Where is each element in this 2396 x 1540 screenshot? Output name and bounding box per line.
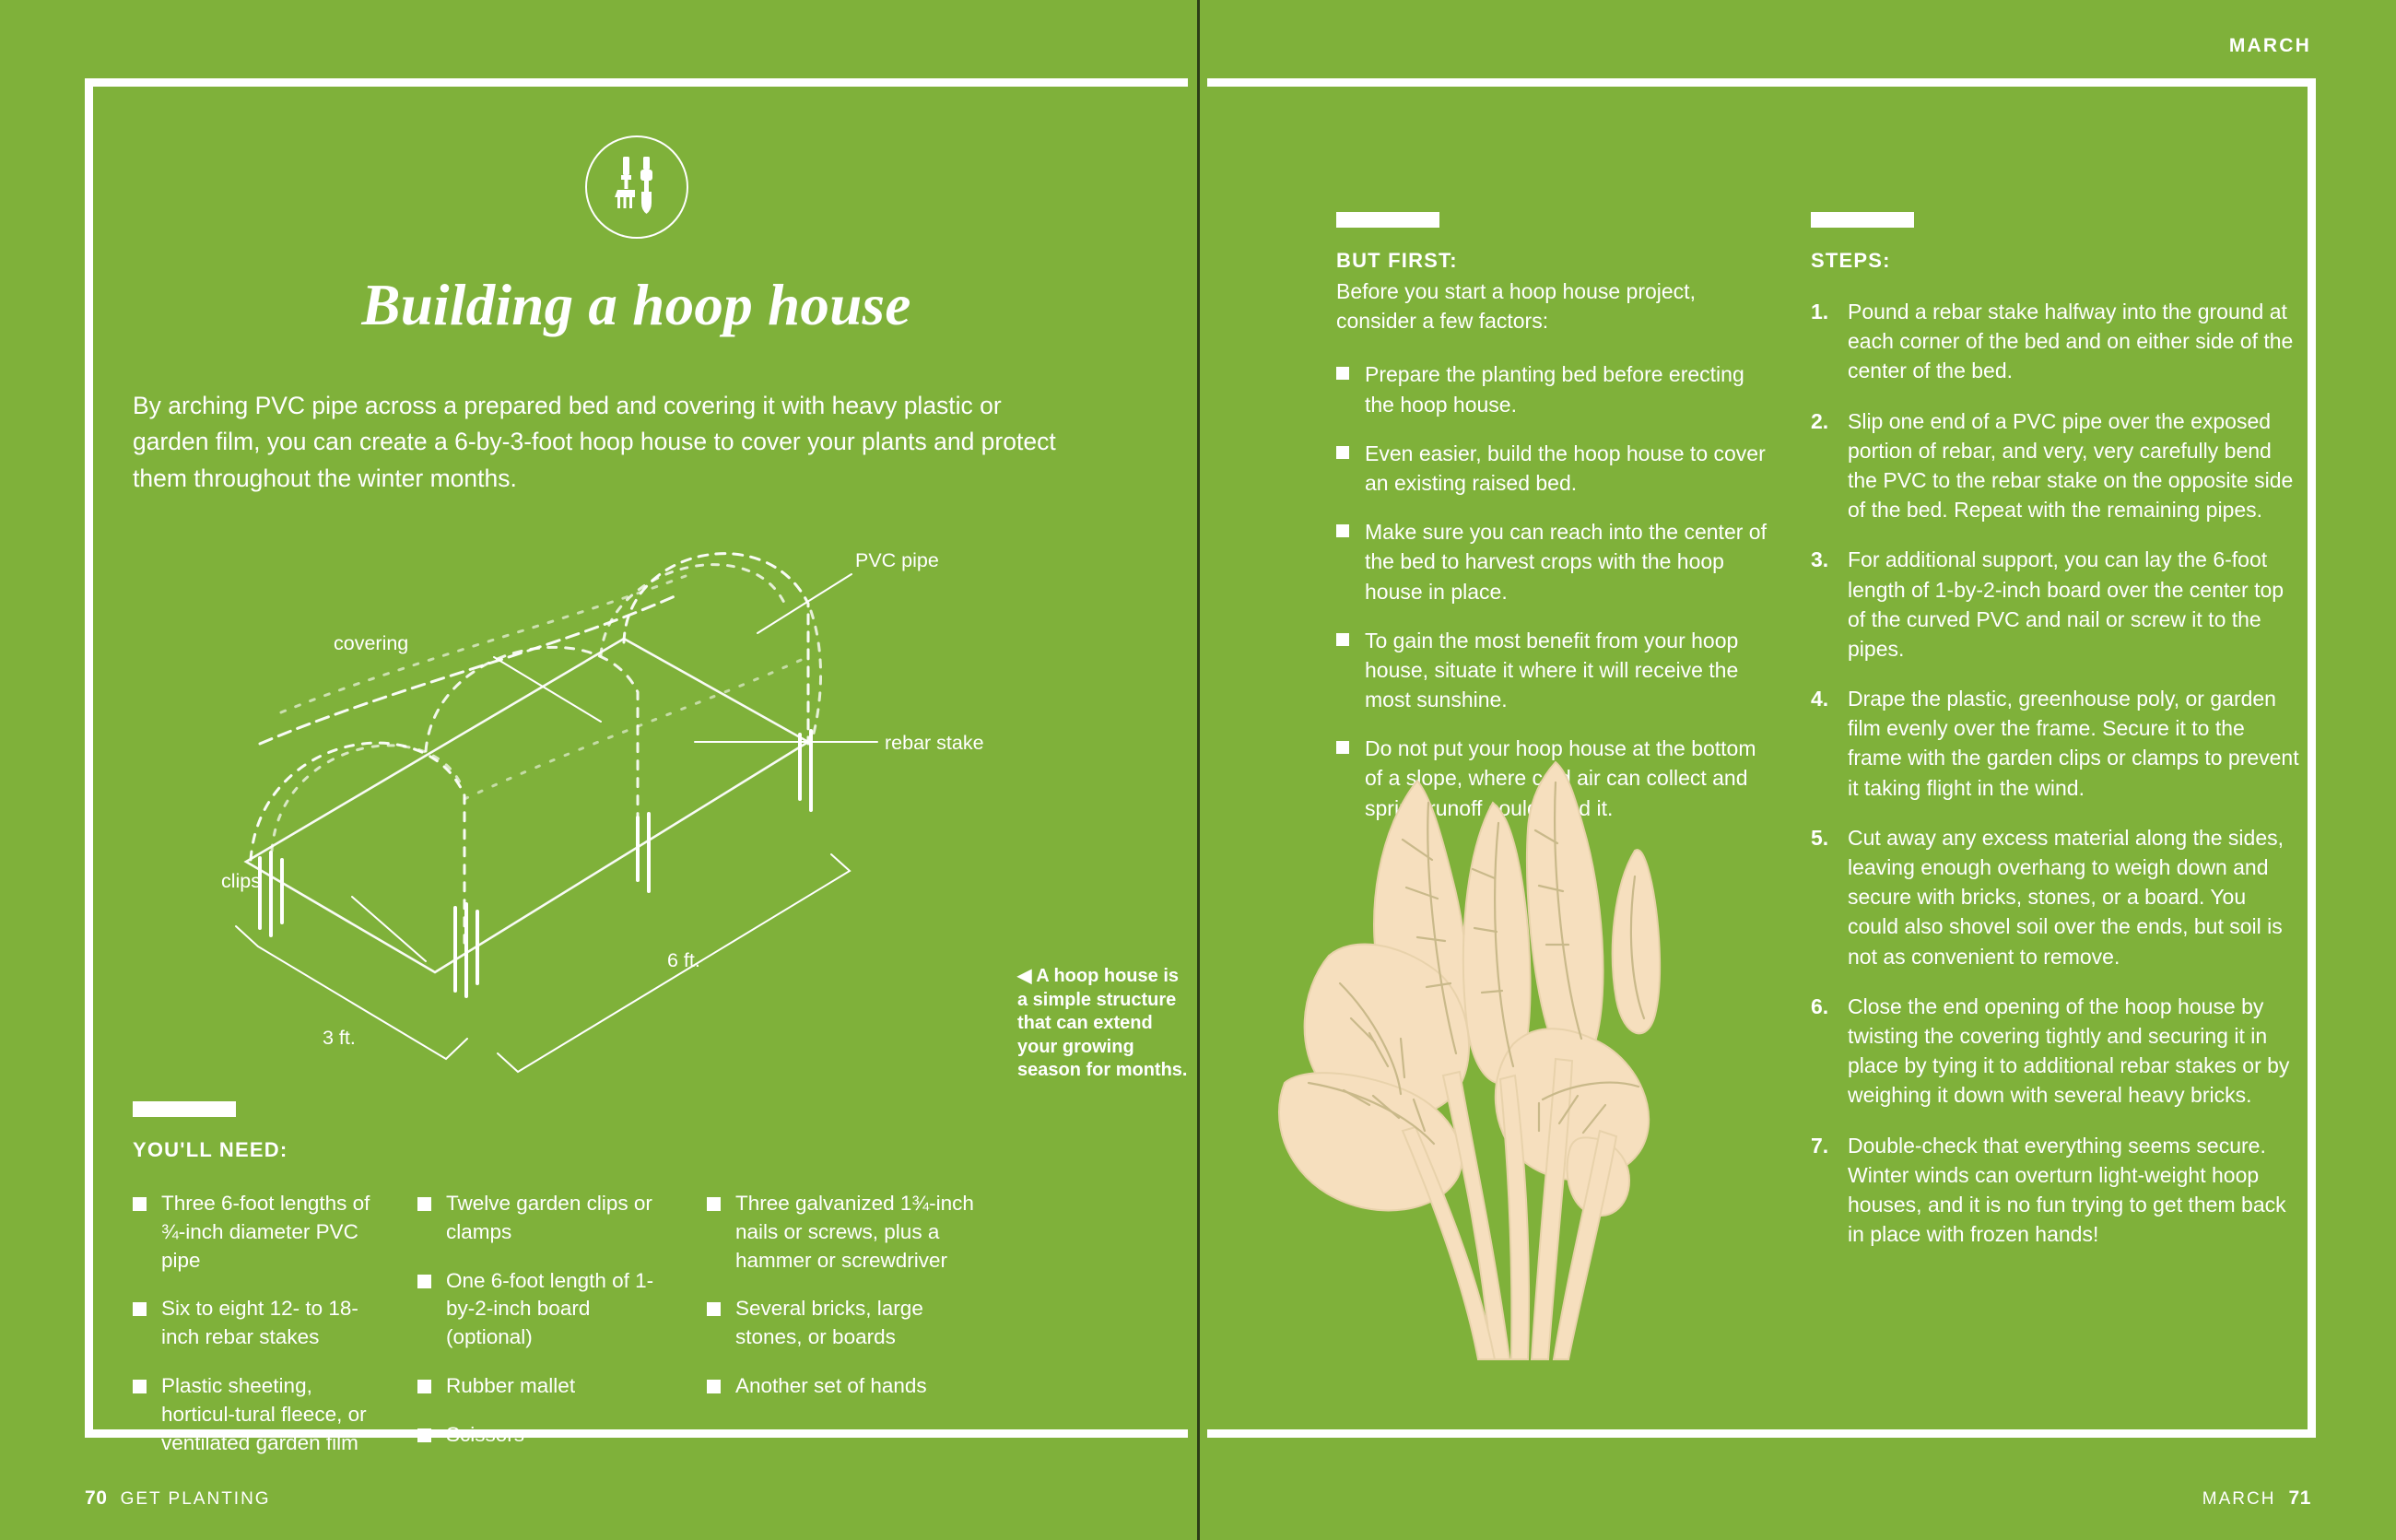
step-item: 5.Cut away any excess material along the…	[1811, 823, 2299, 971]
list-item-text: Several bricks, large stones, or boards	[735, 1295, 974, 1352]
bullet-square-icon	[707, 1197, 721, 1211]
list-item-text: To gain the most benefit from your hoop …	[1365, 626, 1779, 715]
list-item: Six to eight 12- to 18-inch rebar stakes	[133, 1295, 386, 1352]
section-rule	[133, 1101, 236, 1117]
diagram-dimension-6ft: 6 ft.	[667, 949, 700, 971]
bullet-square-icon	[1336, 524, 1349, 537]
step-item: 3.For additional support, you can lay th…	[1811, 545, 2299, 664]
step-item: 4.Drape the plastic, greenhouse poly, or…	[1811, 684, 2299, 803]
running-head: MARCH	[2229, 35, 2311, 57]
bullet-square-icon	[133, 1302, 147, 1316]
step-text: Close the end opening of the hoop house …	[1848, 992, 2299, 1111]
tool-badge	[585, 135, 688, 239]
list-item-text: Three galvanized 1¾-inch nails or screws…	[735, 1190, 974, 1275]
list-item: Another set of hands	[707, 1372, 974, 1401]
bullet-square-icon	[1336, 633, 1349, 646]
step-number: 7.	[1811, 1131, 1848, 1250]
list-item-text: Even easier, build the hoop house to cov…	[1365, 439, 1779, 498]
diagram-label-rebar-stake: rebar stake	[885, 732, 984, 754]
list-item-text: Six to eight 12- to 18-inch rebar stakes	[161, 1295, 386, 1352]
list-item: Make sure you can reach into the center …	[1336, 517, 1779, 606]
folio-page-number: 71	[2288, 1487, 2311, 1510]
step-text: Pound a rebar stake halfway into the gro…	[1848, 297, 2299, 386]
step-item: 1.Pound a rebar stake halfway into the g…	[1811, 297, 2299, 386]
bullet-square-icon	[707, 1380, 721, 1393]
step-text: Drape the plastic, greenhouse poly, or g…	[1848, 684, 2299, 803]
book-spread: MARCH Building a hoop house	[0, 0, 2396, 1540]
book-gutter	[1197, 0, 1200, 1540]
youll-need-columns: Three 6-foot lengths of ¾-inch diameter …	[133, 1190, 1146, 1478]
list-item-text: Another set of hands	[735, 1372, 927, 1401]
youll-need-column-2: Twelve garden clips or clamps One 6-foot…	[417, 1190, 675, 1478]
youll-need-column-3: Three galvanized 1¾-inch nails or screws…	[707, 1190, 974, 1478]
section-rule	[1811, 212, 1914, 228]
spinach-plant-illustration	[1263, 714, 1677, 1378]
list-item-text: Rubber mallet	[446, 1372, 575, 1401]
bullet-square-icon	[133, 1380, 147, 1393]
list-item-text: Prepare the planting bed before erecting…	[1365, 359, 1779, 418]
hoop-house-diagram: PVC pipe covering clips rebar stake 6 ft…	[122, 475, 1071, 991]
list-item-text: Plastic sheeting, horticul-tural fleece,…	[161, 1372, 386, 1457]
list-item: One 6-foot length of 1-by-2-inch board (…	[417, 1267, 675, 1352]
page-title: Building a hoop house	[361, 272, 910, 339]
diagram-dimension-3ft: 3 ft.	[323, 1027, 356, 1049]
but-first-kicker: BUT FIRST:	[1336, 249, 1779, 273]
folio-right: MARCH 71	[2202, 1487, 2311, 1510]
step-number: 4.	[1811, 684, 1848, 803]
step-text: Double-check that everything seems secur…	[1848, 1131, 2299, 1250]
list-item-text: Make sure you can reach into the center …	[1365, 517, 1779, 606]
bullet-square-icon	[417, 1428, 431, 1442]
bullet-square-icon	[417, 1380, 431, 1393]
step-number: 2.	[1811, 406, 1848, 525]
folio-left: 70 GET PLANTING	[85, 1487, 271, 1510]
list-item: Scissors	[417, 1421, 675, 1450]
bullet-square-icon	[1336, 446, 1349, 459]
left-page: Building a hoop house By arching PVC pip…	[85, 78, 1188, 1438]
list-item-text: Scissors	[446, 1421, 524, 1450]
steps-kicker: STEPS:	[1811, 249, 2299, 273]
list-item: Twelve garden clips or clamps	[417, 1190, 675, 1247]
list-item: To gain the most benefit from your hoop …	[1336, 626, 1779, 715]
bullet-square-icon	[707, 1302, 721, 1316]
bullet-square-icon	[1336, 367, 1349, 380]
steps-column: STEPS: 1.Pound a rebar stake halfway int…	[1811, 212, 2299, 1269]
folio-page-number: 70	[85, 1487, 108, 1510]
diagram-label-covering: covering	[334, 632, 408, 654]
section-rule	[1336, 212, 1439, 228]
list-item: Rubber mallet	[417, 1372, 675, 1401]
list-item-text: One 6-foot length of 1-by-2-inch board (…	[446, 1267, 675, 1352]
step-number: 3.	[1811, 545, 1848, 664]
list-item-text: Twelve garden clips or clamps	[446, 1190, 675, 1247]
step-item: 2.Slip one end of a PVC pipe over the ex…	[1811, 406, 2299, 525]
step-number: 6.	[1811, 992, 1848, 1111]
bullet-square-icon	[417, 1275, 431, 1288]
step-number: 1.	[1811, 297, 1848, 386]
list-item: Even easier, build the hoop house to cov…	[1336, 439, 1779, 498]
bullet-square-icon	[133, 1197, 147, 1211]
youll-need-column-1: Three 6-foot lengths of ¾-inch diameter …	[133, 1190, 386, 1478]
but-first-intro: Before you start a hoop house project, c…	[1336, 276, 1779, 335]
step-item: 6.Close the end opening of the hoop hous…	[1811, 992, 2299, 1111]
step-item: 7.Double-check that everything seems sec…	[1811, 1131, 2299, 1250]
list-item: Three galvanized 1¾-inch nails or screws…	[707, 1190, 974, 1275]
step-text: Cut away any excess material along the s…	[1848, 823, 2299, 971]
step-text: Slip one end of a PVC pipe over the expo…	[1848, 406, 2299, 525]
diagram-label-clips: clips	[221, 870, 261, 892]
youll-need-kicker: YOU'LL NEED:	[133, 1138, 1146, 1162]
right-page: BUT FIRST: Before you start a hoop house…	[1207, 78, 2316, 1438]
step-text: For additional support, you can lay the …	[1848, 545, 2299, 664]
list-item: Several bricks, large stones, or boards	[707, 1295, 974, 1352]
step-number: 5.	[1811, 823, 1848, 971]
bullet-square-icon	[417, 1197, 431, 1211]
garden-fork-and-trowel-icon	[611, 155, 663, 220]
list-item: Plastic sheeting, horticul-tural fleece,…	[133, 1372, 386, 1457]
figure-caption: ◀ A hoop house is a simple structure tha…	[1017, 965, 1188, 1083]
list-item-text: Three 6-foot lengths of ¾-inch diameter …	[161, 1190, 386, 1275]
folio-section-label: GET PLANTING	[121, 1489, 271, 1510]
list-item: Prepare the planting bed before erecting…	[1336, 359, 1779, 418]
folio-section-label: MARCH	[2202, 1489, 2276, 1510]
youll-need-section: YOU'LL NEED: Three 6-foot lengths of ¾-i…	[133, 1101, 1146, 1478]
list-item: Three 6-foot lengths of ¾-inch diameter …	[133, 1190, 386, 1275]
diagram-label-pvc-pipe: PVC pipe	[855, 549, 939, 571]
